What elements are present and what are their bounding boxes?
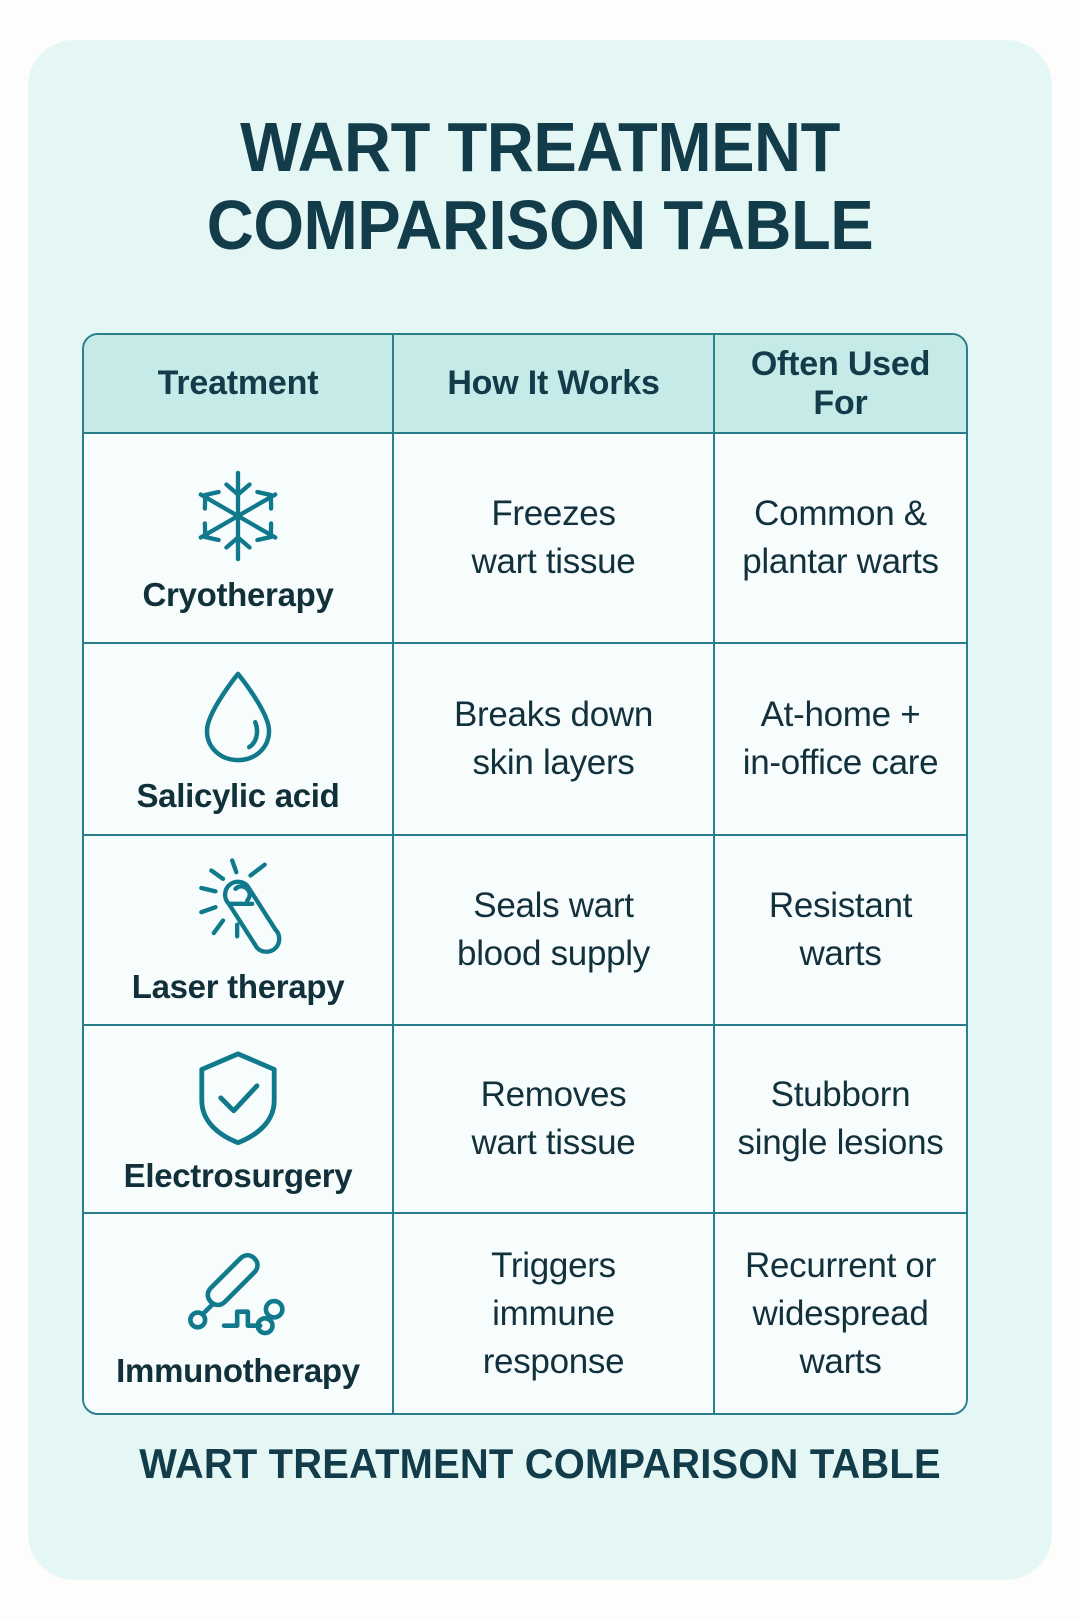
column-header-how-it-works: How It Works xyxy=(393,335,714,433)
table-header-row: Treatment How It Works Often Used For xyxy=(84,335,966,433)
shield-check-icon xyxy=(98,1043,378,1151)
how-it-works-text: Seals wart blood supply xyxy=(408,882,699,978)
how-it-works-text: Triggers immune response xyxy=(408,1242,699,1386)
table-row: Cryotherapy Freezes wart tissue Common & xyxy=(84,433,966,643)
often-used-for-cell: Recurrent or widespread warts xyxy=(714,1213,966,1413)
treatment-cell-cryotherapy: Cryotherapy xyxy=(84,433,393,643)
often-used-for-text: At-home + in-office care xyxy=(729,691,952,787)
how-it-works-text: Removes wart tissue xyxy=(408,1071,699,1167)
treatment-cell-electrosurgery: Electrosurgery xyxy=(84,1025,393,1213)
table-row: Immunotherapy Triggers immune response xyxy=(84,1213,966,1413)
treatment-label: Salicylic acid xyxy=(98,777,378,815)
treatment-label: Cryotherapy xyxy=(98,576,378,614)
snowflake-icon xyxy=(98,462,378,570)
treatment-label: Laser therapy xyxy=(98,968,378,1006)
treatment-cell-immunotherapy: Immunotherapy xyxy=(84,1213,393,1413)
treatment-cell-laser-therapy: Laser therapy xyxy=(84,835,393,1025)
often-used-for-text: Recurrent or widespread warts xyxy=(729,1242,952,1386)
table-row: Electrosurgery Removes wart tissue Stubb… xyxy=(84,1025,966,1213)
infographic-poster: WART TREATMENT COMPARISON TABLE Treatmen… xyxy=(0,0,1080,1620)
immune-molecule-icon xyxy=(98,1238,378,1346)
treatment-label: Immunotherapy xyxy=(98,1352,378,1390)
often-used-for-text: Common & plantar warts xyxy=(729,490,952,586)
content-card: WART TREATMENT COMPARISON TABLE Treatmen… xyxy=(28,40,1052,1580)
page-title-line-1: WART TREATMENT xyxy=(64,108,1016,186)
column-header-treatment: Treatment xyxy=(84,335,393,433)
table-header: Treatment How It Works Often Used For xyxy=(84,335,966,433)
how-it-works-cell: Removes wart tissue xyxy=(393,1025,714,1213)
often-used-for-text: Stubborn single lesions xyxy=(729,1071,952,1167)
table-row: Salicylic acid Breaks down skin layers A… xyxy=(84,643,966,835)
comparison-table: Treatment How It Works Often Used For xyxy=(84,335,966,1413)
droplet-icon xyxy=(98,663,378,771)
footer-caption: WART TREATMENT COMPARISON TABLE xyxy=(54,1440,1027,1488)
page-title: WART TREATMENT COMPARISON TABLE xyxy=(64,108,1016,264)
how-it-works-text: Breaks down skin layers xyxy=(408,691,699,787)
often-used-for-cell: Stubborn single lesions xyxy=(714,1025,966,1213)
how-it-works-cell: Freezes wart tissue xyxy=(393,433,714,643)
how-it-works-cell: Triggers immune response xyxy=(393,1213,714,1413)
treatment-label: Electrosurgery xyxy=(98,1157,378,1195)
how-it-works-text: Freezes wart tissue xyxy=(408,490,699,586)
often-used-for-text: Resistant warts xyxy=(729,882,952,978)
column-header-often-used-for: Often Used For xyxy=(714,335,966,433)
table-body: Cryotherapy Freezes wart tissue Common & xyxy=(84,433,966,1413)
laser-wand-icon xyxy=(98,854,378,962)
how-it-works-cell: Breaks down skin layers xyxy=(393,643,714,835)
page-title-line-2: COMPARISON TABLE xyxy=(64,186,1016,264)
comparison-table-container: Treatment How It Works Often Used For xyxy=(82,333,968,1415)
often-used-for-cell: Common & plantar warts xyxy=(714,433,966,643)
treatment-cell-salicylic-acid: Salicylic acid xyxy=(84,643,393,835)
often-used-for-cell: At-home + in-office care xyxy=(714,643,966,835)
often-used-for-cell: Resistant warts xyxy=(714,835,966,1025)
table-row: Laser therapy Seals wart blood supply Re… xyxy=(84,835,966,1025)
how-it-works-cell: Seals wart blood supply xyxy=(393,835,714,1025)
